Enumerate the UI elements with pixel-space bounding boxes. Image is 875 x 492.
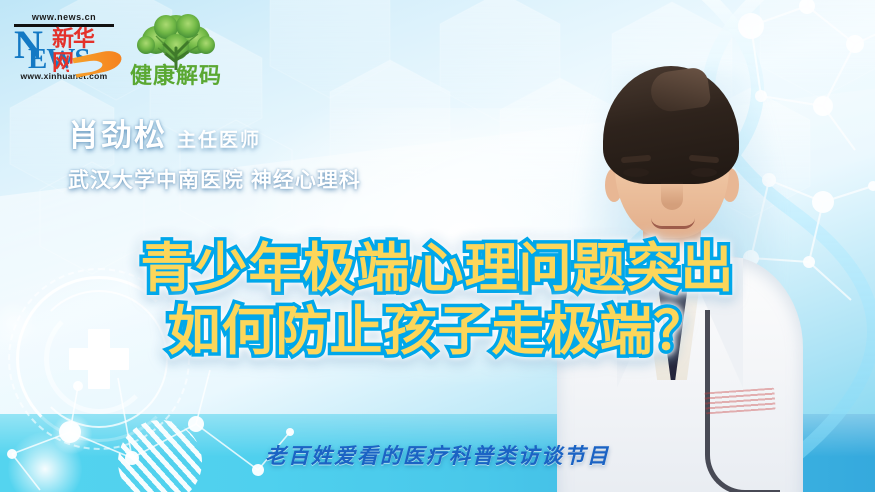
- headline-line-2: 如何防止孩子走极端？: [0, 301, 875, 362]
- eye-left: [623, 168, 649, 177]
- guest-rank: 主任医师: [177, 125, 261, 152]
- mouth: [651, 218, 695, 229]
- program-tagline: 老百姓爱看的医疗科普类访谈节目: [0, 440, 875, 470]
- broadcast-title-card: www.news.cn N EWS 新华网 www.xinhuanet.com: [0, 0, 875, 492]
- guest-affiliation: 武汉大学中南医院 神经心理科: [68, 164, 361, 194]
- headline-line-1: 青少年极端心理问题突出: [0, 238, 875, 299]
- guest-info: 肖劲松 主任医师 武汉大学中南医院 神经心理科: [68, 110, 361, 194]
- show-logo-text: 健康解码: [118, 58, 234, 90]
- show-logo[interactable]: 健康解码: [118, 14, 234, 90]
- logo-mark: N EWS 新华网: [14, 27, 114, 71]
- nose: [661, 182, 683, 210]
- guest-name-row: 肖劲松 主任医师: [68, 110, 361, 155]
- guest-name: 肖劲松: [68, 110, 167, 155]
- xinhuanet-logo[interactable]: www.news.cn N EWS 新华网 www.xinhuanet.com: [14, 12, 114, 84]
- headline: 青少年极端心理问题突出 如何防止孩子走极端？: [0, 238, 875, 363]
- eye-right: [691, 168, 717, 177]
